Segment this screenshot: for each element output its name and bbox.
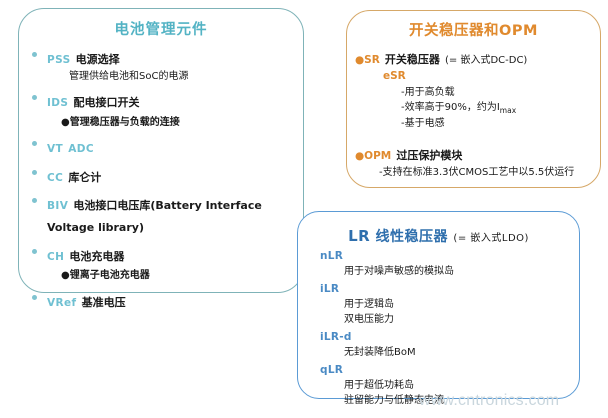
spacer [355, 131, 592, 142]
list-item: VRef 基准电压 [19, 290, 303, 312]
opm-abbr: ●OPM [355, 150, 391, 162]
item-sub-dot: ●管理稳压器与负载的连接 [47, 116, 297, 130]
item-term: 电源选择 [76, 53, 120, 66]
sr-dash-line: -用于高负载 [355, 85, 592, 100]
bullet-dot-icon [32, 52, 37, 57]
lr-title-paren: (= 嵌入式LDO) [453, 233, 529, 244]
item-abbr: IDS [47, 97, 68, 109]
item-abbr: BIV [47, 200, 68, 212]
sr-dash-subscript: max [500, 106, 516, 115]
lr-group: iLR 用于逻辑岛 双电压能力 [298, 282, 579, 327]
linear-regulator-panel: LR 线性稳压器 (= 嵌入式LDO) nLR 用于对噪声敏感的模拟岛 iLR … [297, 211, 580, 399]
lr-group-abbr: qLR [320, 363, 579, 379]
site-watermark: www.cntronics.com [419, 392, 559, 410]
switching-panel-title: 开关稳压器和OPM [347, 11, 600, 40]
item-term: 电池充电器 [69, 250, 124, 263]
item-sub: 管理供给电池和SoC的电源 [47, 70, 297, 84]
sr-abbr: ●SR [355, 54, 380, 66]
item-term: ADC [68, 143, 94, 155]
lr-group-abbr: nLR [320, 249, 579, 265]
opm-term: 过压保护模块 [396, 149, 462, 162]
item-abbr: VT [47, 143, 63, 155]
list-item: BIV 电池接口电压库(Battery Interface Voltage li… [19, 193, 303, 236]
lr-group-line: 用于逻辑岛 [320, 298, 579, 313]
bullet-dot-icon [32, 95, 37, 100]
lr-group-line: 用于对噪声敏感的模拟岛 [320, 265, 579, 280]
bullet-dot-icon [32, 141, 37, 146]
list-item: VT ADC [19, 136, 303, 158]
lr-group-line: 无封装降低BoM [320, 346, 579, 361]
esr-sub-heading: eSR [355, 69, 592, 85]
list-item: IDS 配电接口开关 ●管理稳压器与负载的连接 [19, 90, 303, 129]
battery-management-panel: 电池管理元件 PSS 电源选择 管理供给电池和SoC的电源 IDS 配电接口开关… [18, 8, 304, 293]
sr-term: 开关稳压器 [385, 53, 440, 66]
item-abbr: CH [47, 251, 64, 263]
lr-title-abbr: LR [348, 227, 370, 245]
item-abbr: VRef [47, 297, 77, 309]
battery-panel-title: 电池管理元件 [19, 9, 303, 39]
list-item: PSS 电源选择 管理供给电池和SoC的电源 [19, 47, 303, 83]
list-item: CC 库仑计 [19, 165, 303, 187]
sr-dash-text: -效率高于90%，约为I [401, 102, 500, 113]
opm-heading-line: ●OPM 过压保护模块 [355, 142, 592, 165]
bullet-dot-icon [32, 170, 37, 175]
item-abbr: CC [47, 172, 63, 184]
item-sub-dot: ●锂离子电池充电器 [47, 269, 297, 283]
item-term: 电池接口电压库(Battery Interface Voltage librar… [47, 199, 262, 234]
linear-panel-title: LR 线性稳压器 (= 嵌入式LDO) [298, 212, 579, 246]
battery-item-list: PSS 电源选择 管理供给电池和SoC的电源 IDS 配电接口开关 ●管理稳压器… [19, 47, 303, 311]
lr-group: iLR-d 无封装降低BoM [298, 330, 579, 360]
sr-dash-line: -效率高于90%，约为Imax [355, 100, 592, 116]
item-term: 基准电压 [82, 296, 126, 309]
bullet-dot-icon [32, 295, 37, 300]
bullet-dot-icon [32, 249, 37, 254]
switching-regulator-opm-panel: 开关稳压器和OPM ●SR 开关稳压器 (= 嵌入式DC-DC) eSR -用于… [346, 10, 601, 188]
lr-group-line: 双电压能力 [320, 313, 579, 328]
opm-dash-line: -支持在标准3.3伏CMOS工艺中以5.5伏运行 [355, 165, 592, 180]
sr-paren: (= 嵌入式DC-DC) [445, 55, 527, 66]
lr-group: nLR 用于对噪声敏感的模拟岛 [298, 249, 579, 279]
lr-group-abbr: iLR-d [320, 330, 579, 346]
lr-title-term: 线性稳压器 [376, 229, 449, 245]
list-item: CH 电池充电器 ●锂离子电池充电器 [19, 244, 303, 283]
lr-group-abbr: iLR [320, 282, 579, 298]
item-abbr: PSS [47, 54, 71, 66]
sr-dash-line: -基于电感 [355, 116, 592, 131]
sr-block: ●SR 开关稳压器 (= 嵌入式DC-DC) eSR -用于高负载 -效率高于9… [347, 40, 600, 180]
item-term: 配电接口开关 [73, 96, 139, 109]
sr-heading-line: ●SR 开关稳压器 (= 嵌入式DC-DC) [355, 46, 592, 69]
item-term: 库仑计 [68, 171, 101, 184]
bullet-dot-icon [32, 198, 37, 203]
